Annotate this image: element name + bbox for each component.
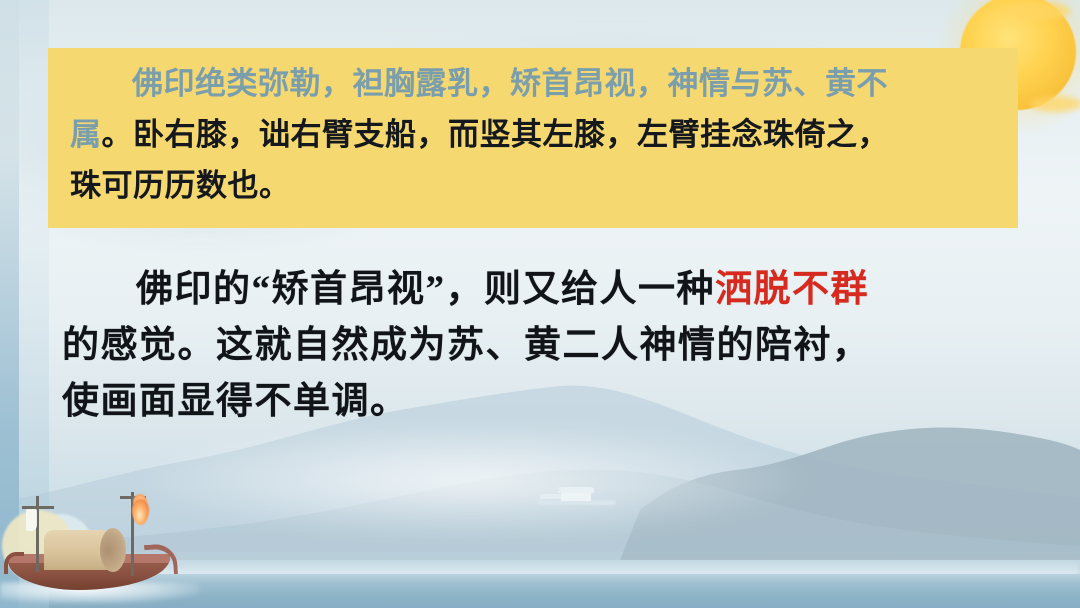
cloud-wisp-top [1006,2,1070,20]
quote-line-2: 属。卧右膝，诎右臂支船，而竖其左膝，左臂挂念珠倚之， [70,109,1010,160]
cloud-wisp-bottom [1030,96,1080,112]
boat-canopy-opening [100,528,126,572]
quote-line-2-seg-1: 属 [70,117,102,152]
body-paragraph: 佛印的“矫首昂视”，则又给人一种洒脱不群 的感觉。这就自然成为苏、黄二人神情的陪… [62,262,1062,430]
body-line-1: 佛印的“矫首昂视”，则又给人一种洒脱不群 [62,262,1062,318]
quote-line-3: 珠可历历数也。 [70,160,1010,211]
body-line-3: 使画面显得不单调。 [62,374,1062,430]
boat-stern [4,552,24,574]
body-line-3-seg-1: 使画面显得不单调。 [62,381,409,422]
body-line-1-seg-1: 佛印的“矫首昂视”，则又给人一种 [136,269,715,310]
body-line-2: 的感觉。这就自然成为苏、黄二人神情的陪衬， [62,318,1062,374]
body-line-1-highlight: 洒脱不群 [715,269,869,310]
mountain-pavilion-icon [540,487,610,507]
boat-bow [144,543,178,576]
quote-line-2-seg-2: 。卧右膝，诎右臂支船，而竖其左膝，左臂挂念珠倚之， [102,117,890,152]
quote-panel-text: 佛印绝类弥勒，袒胸露乳，矫首昂视，神情与苏、黄不 属。卧右膝，诎右臂支船，而竖其… [70,58,1010,211]
boat-sail-cloth [26,509,37,531]
red-lantern-icon [132,499,149,525]
boat-illustration [0,470,230,608]
body-line-2-seg-1: 的感觉。这就自然成为苏、黄二人神情的陪衬， [62,325,871,366]
quote-line-1-seg-1: 佛印绝类弥勒，袒胸露乳，矫首昂视，神情与苏、黄不 [132,66,888,101]
quote-line-3-seg-1: 珠可历历数也。 [70,168,291,203]
slide-canvas: 佛印绝类弥勒，袒胸露乳，矫首昂视，神情与苏、黄不 属。卧右膝，诎右臂支船，而竖其… [0,0,1080,608]
quote-line-1: 佛印绝类弥勒，袒胸露乳，矫首昂视，神情与苏、黄不 [70,58,1010,109]
